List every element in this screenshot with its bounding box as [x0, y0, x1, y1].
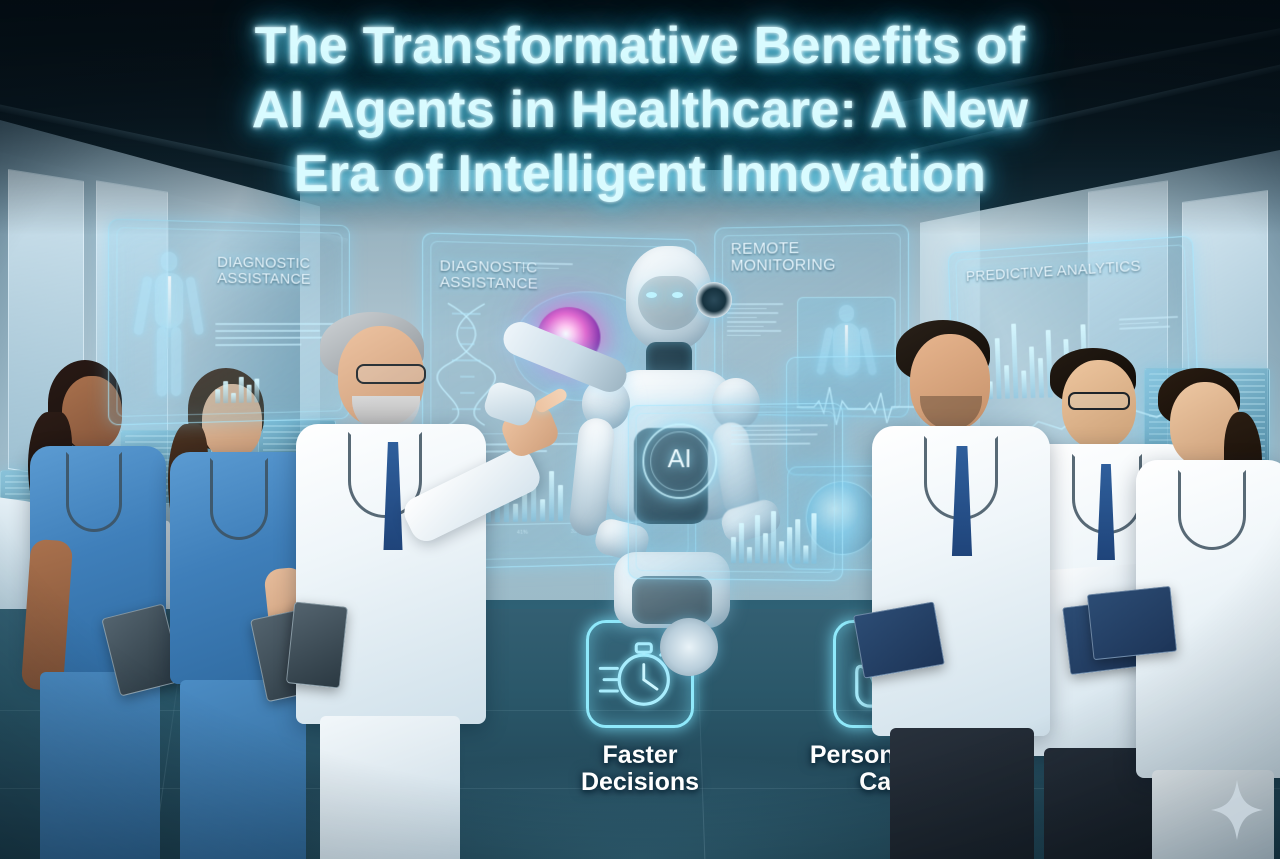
- robot-eye-left: [646, 292, 657, 298]
- body-arm: [133, 276, 153, 336]
- figure-nurse-left-1: [18, 360, 178, 859]
- title-line-1: The Transformative Benefits of: [70, 14, 1210, 78]
- stethoscope: [210, 458, 268, 540]
- body-spine: [168, 276, 171, 337]
- stethoscope: [66, 452, 122, 532]
- panel-mini-bars: [215, 373, 259, 404]
- clipboard: [1087, 586, 1177, 660]
- body-head: [161, 252, 177, 272]
- ai-badge-label: AI: [642, 443, 717, 474]
- eyeglasses: [1068, 392, 1130, 410]
- figure-senior-doctor: [296, 312, 586, 859]
- figure-doctor-right-1: [872, 320, 1062, 859]
- legs: [320, 716, 460, 859]
- body-head: [839, 305, 854, 322]
- panel-title: DIAGNOSTIC ASSISTANCE: [217, 255, 341, 288]
- pointing-finger: [533, 386, 569, 414]
- panel-readout-lines: [731, 424, 828, 444]
- stethoscope: [1178, 470, 1246, 550]
- human-body-scan-figure: [136, 251, 201, 405]
- poster-canvas: DIAGNOSTIC ASSISTANCE DIAGNOSTIC ASSISTA…: [0, 0, 1280, 859]
- body-leg: [171, 327, 181, 396]
- robot-hip-joint: [660, 618, 718, 676]
- four-point-sparkle-icon: [1210, 779, 1264, 841]
- title-line-3: Era of Intelligent Innovation: [70, 142, 1210, 206]
- legs: [890, 728, 1034, 859]
- robot-eye-right: [672, 292, 683, 298]
- tablet: [286, 601, 348, 688]
- holo-panel-ai-badge[interactable]: AI: [628, 403, 843, 581]
- title-line-2: AI Agents in Healthcare: A New: [70, 78, 1210, 142]
- page-title: The Transformative Benefits of AI Agents…: [0, 14, 1280, 206]
- robot-face-plate: [638, 276, 700, 330]
- robot-ear-module: [696, 282, 732, 318]
- body-leg: [157, 327, 167, 396]
- panel-annotations: [521, 262, 573, 269]
- robot-hip-detail: [632, 576, 712, 624]
- eyeglasses: [356, 364, 426, 384]
- scrubs-pants: [40, 672, 160, 859]
- panel-bar-chart: [731, 509, 817, 564]
